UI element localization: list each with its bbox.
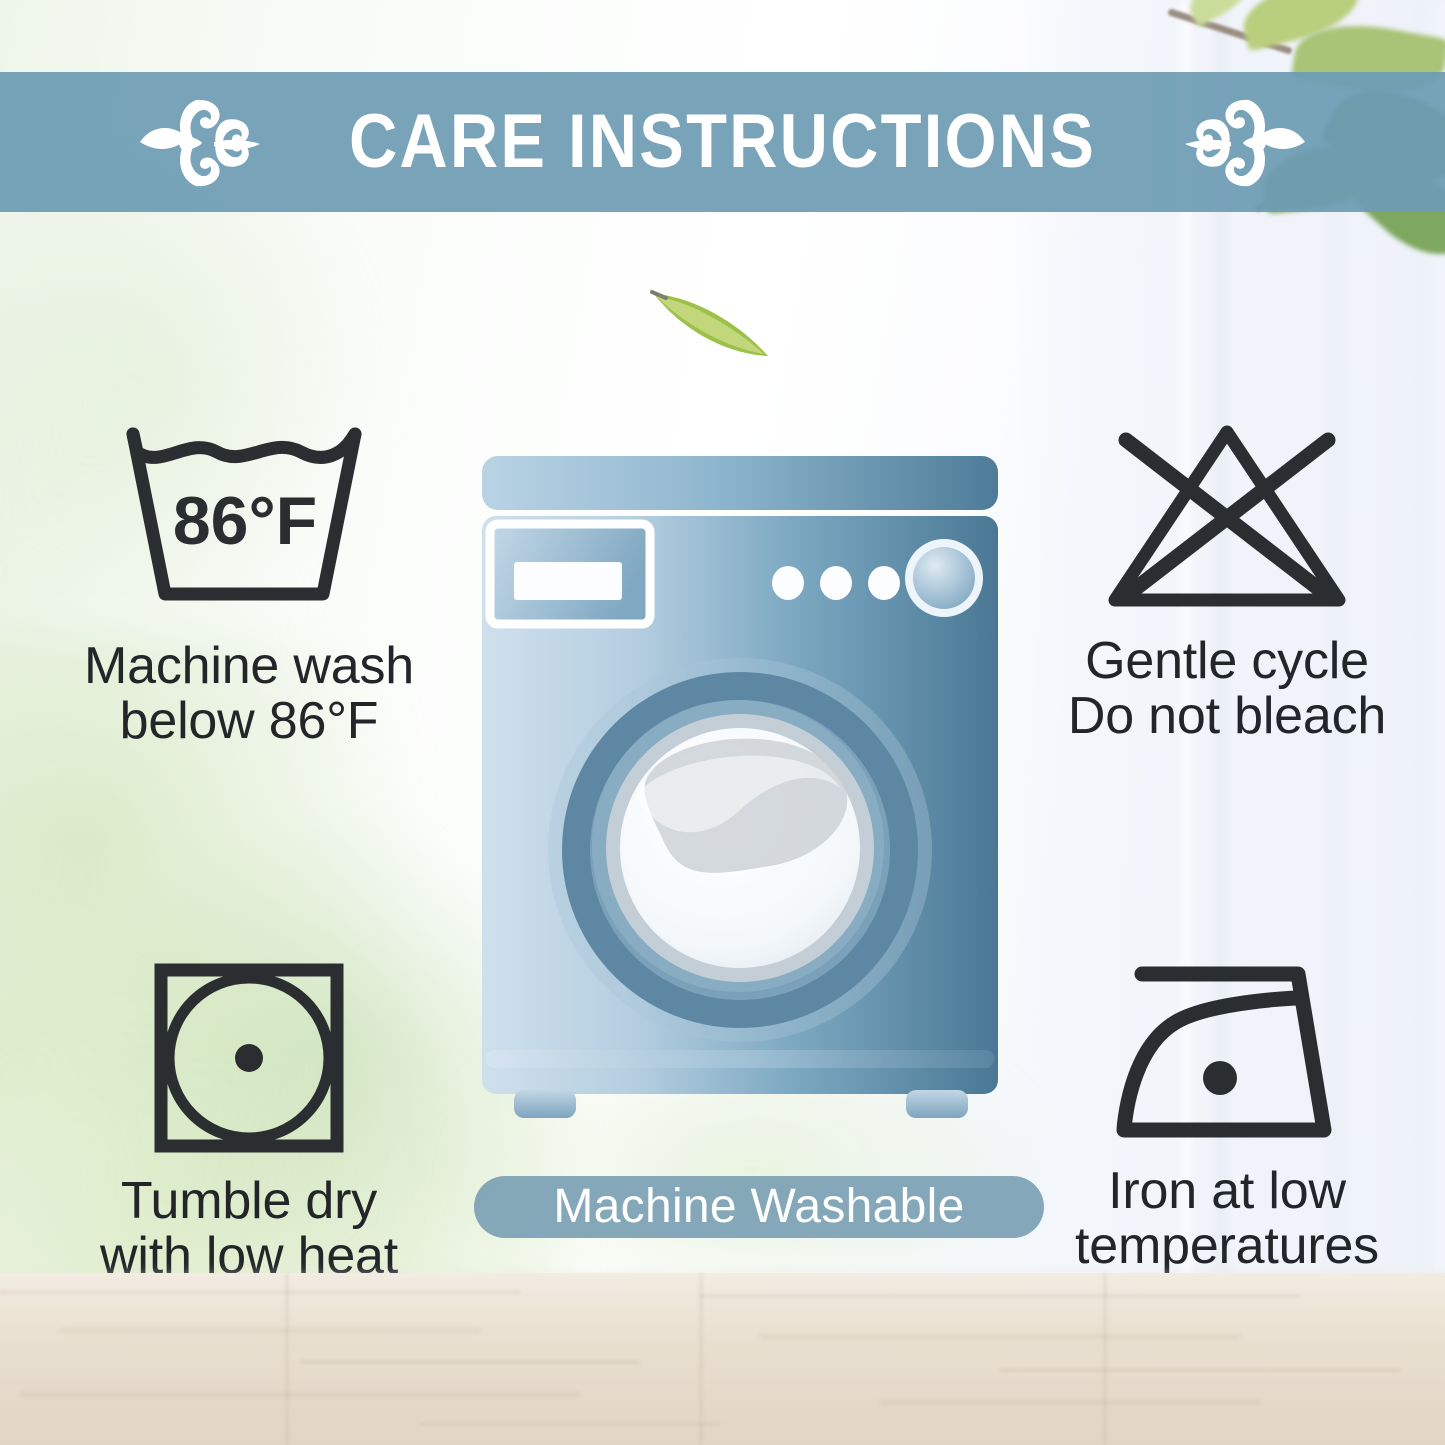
indicator-light bbox=[820, 566, 852, 600]
washing-machine-illustration bbox=[470, 450, 1010, 1140]
header-banner: CARE INSTRUCTIONS bbox=[0, 72, 1445, 212]
care-symbol-caption: Gentle cycle Do not bleach bbox=[1068, 634, 1386, 744]
care-instructions-infographic: CARE INSTRUCTIONS 86°F Machine wash belo… bbox=[0, 0, 1445, 1445]
machine-foot bbox=[514, 1090, 576, 1118]
indicator-light bbox=[772, 566, 804, 600]
control-knob-icon[interactable] bbox=[913, 547, 975, 609]
indicator-light bbox=[868, 566, 900, 600]
machine-base-strip bbox=[486, 1050, 994, 1068]
drawer-slot bbox=[514, 562, 622, 600]
wash-tub-icon: 86°F bbox=[119, 418, 379, 623]
status-badge: Machine Washable bbox=[553, 1183, 964, 1231]
care-symbol-caption: Machine wash below 86°F bbox=[84, 639, 414, 749]
iron-low-heat-icon bbox=[1102, 958, 1352, 1148]
fleur-de-lis-icon bbox=[122, 94, 272, 190]
page-title: CARE INSTRUCTIONS bbox=[349, 104, 1096, 180]
wash-temperature-value: 86°F bbox=[173, 483, 317, 559]
care-symbol-caption: Tumble dry with low heat bbox=[100, 1174, 398, 1284]
care-symbol-tumble-dry: Tumble dry with low heat bbox=[24, 958, 474, 1284]
care-symbol-do-not-bleach: Gentle cycle Do not bleach bbox=[1012, 418, 1442, 744]
fleur-de-lis-icon bbox=[1173, 94, 1323, 190]
care-symbol-iron: Iron at low temperatures bbox=[1012, 958, 1442, 1274]
machine-foot bbox=[906, 1090, 968, 1118]
do-not-bleach-triangle-icon bbox=[1096, 418, 1358, 618]
wooden-table-surface bbox=[0, 1273, 1445, 1445]
floating-leaf-icon bbox=[648, 282, 780, 362]
tumble-dry-low-icon bbox=[149, 958, 349, 1158]
care-symbol-machine-wash: 86°F Machine wash below 86°F bbox=[24, 418, 474, 749]
care-symbol-caption: Iron at low temperatures bbox=[1075, 1164, 1379, 1274]
machine-top-lid bbox=[482, 456, 998, 510]
machine-washable-badge: Machine Washable bbox=[474, 1176, 1044, 1238]
